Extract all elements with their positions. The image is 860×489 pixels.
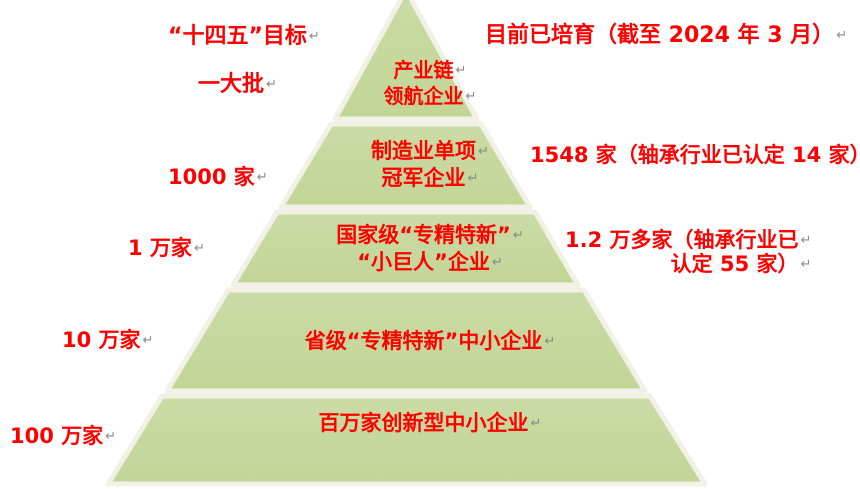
pilcrow-mark: ↵ [307, 29, 320, 44]
pilcrow-mark: ↵ [192, 241, 205, 256]
left-header-title: “十四五”目标↵ [168, 24, 320, 49]
left-label-tier2-text: 1000 家 [168, 165, 255, 189]
pilcrow-mark: ↵ [799, 233, 812, 248]
right-label-tier3: 1.2 万多家（轴承行业已↵ 认定 55 家）↵ [565, 228, 811, 276]
left-label-tier4: 10 万家↵ [62, 328, 153, 352]
pilcrow-mark: ↵ [141, 333, 154, 348]
pilcrow-mark: ↵ [834, 28, 847, 43]
pilcrow-mark: ↵ [264, 77, 277, 92]
pyramid-tier-5-shape [108, 396, 705, 484]
pyramid-tier-2-shape [281, 124, 530, 207]
pyramid-tier-4-shape [167, 290, 645, 391]
slide-canvas: 产业链↵ 领航企业↵ 制造业单项↵ 冠军企业↵ 国家级“专精特新”↵ “小巨人”… [0, 0, 860, 489]
right-label-tier2-text: 1548 家（轴承行业已认定 14 家） [530, 143, 860, 167]
pilcrow-mark: ↵ [799, 257, 812, 272]
left-label-tier4-text: 10 万家 [62, 328, 141, 352]
right-label-tier2: 1548 家（轴承行业已认定 14 家） [530, 143, 860, 167]
left-label-tier1-text: 一大批 [198, 72, 264, 97]
left-label-tier1: 一大批↵ [198, 72, 277, 97]
pyramid-tier-3-shape [233, 212, 578, 285]
left-label-tier5: 100 万家↵ [10, 424, 116, 448]
left-label-tier2: 1000 家↵ [168, 165, 268, 189]
right-label-tier3-line-1: 1.2 万多家（轴承行业已 [565, 228, 799, 252]
right-header-title: 目前已培育（截至 2024 年 3 月）↵ [485, 23, 847, 48]
pilcrow-mark: ↵ [103, 429, 116, 444]
right-label-tier3-line-2: 认定 55 家） [671, 252, 799, 276]
right-header-title-text: 目前已培育（截至 2024 年 3 月） [485, 23, 834, 48]
pilcrow-mark: ↵ [255, 170, 268, 185]
left-label-tier5-text: 100 万家 [10, 424, 103, 448]
left-header-title-text: “十四五”目标 [168, 24, 307, 49]
pyramid-tier-1-shape [335, 0, 477, 119]
left-label-tier3: 1 万家↵ [128, 236, 205, 260]
left-label-tier3-text: 1 万家 [128, 236, 192, 260]
